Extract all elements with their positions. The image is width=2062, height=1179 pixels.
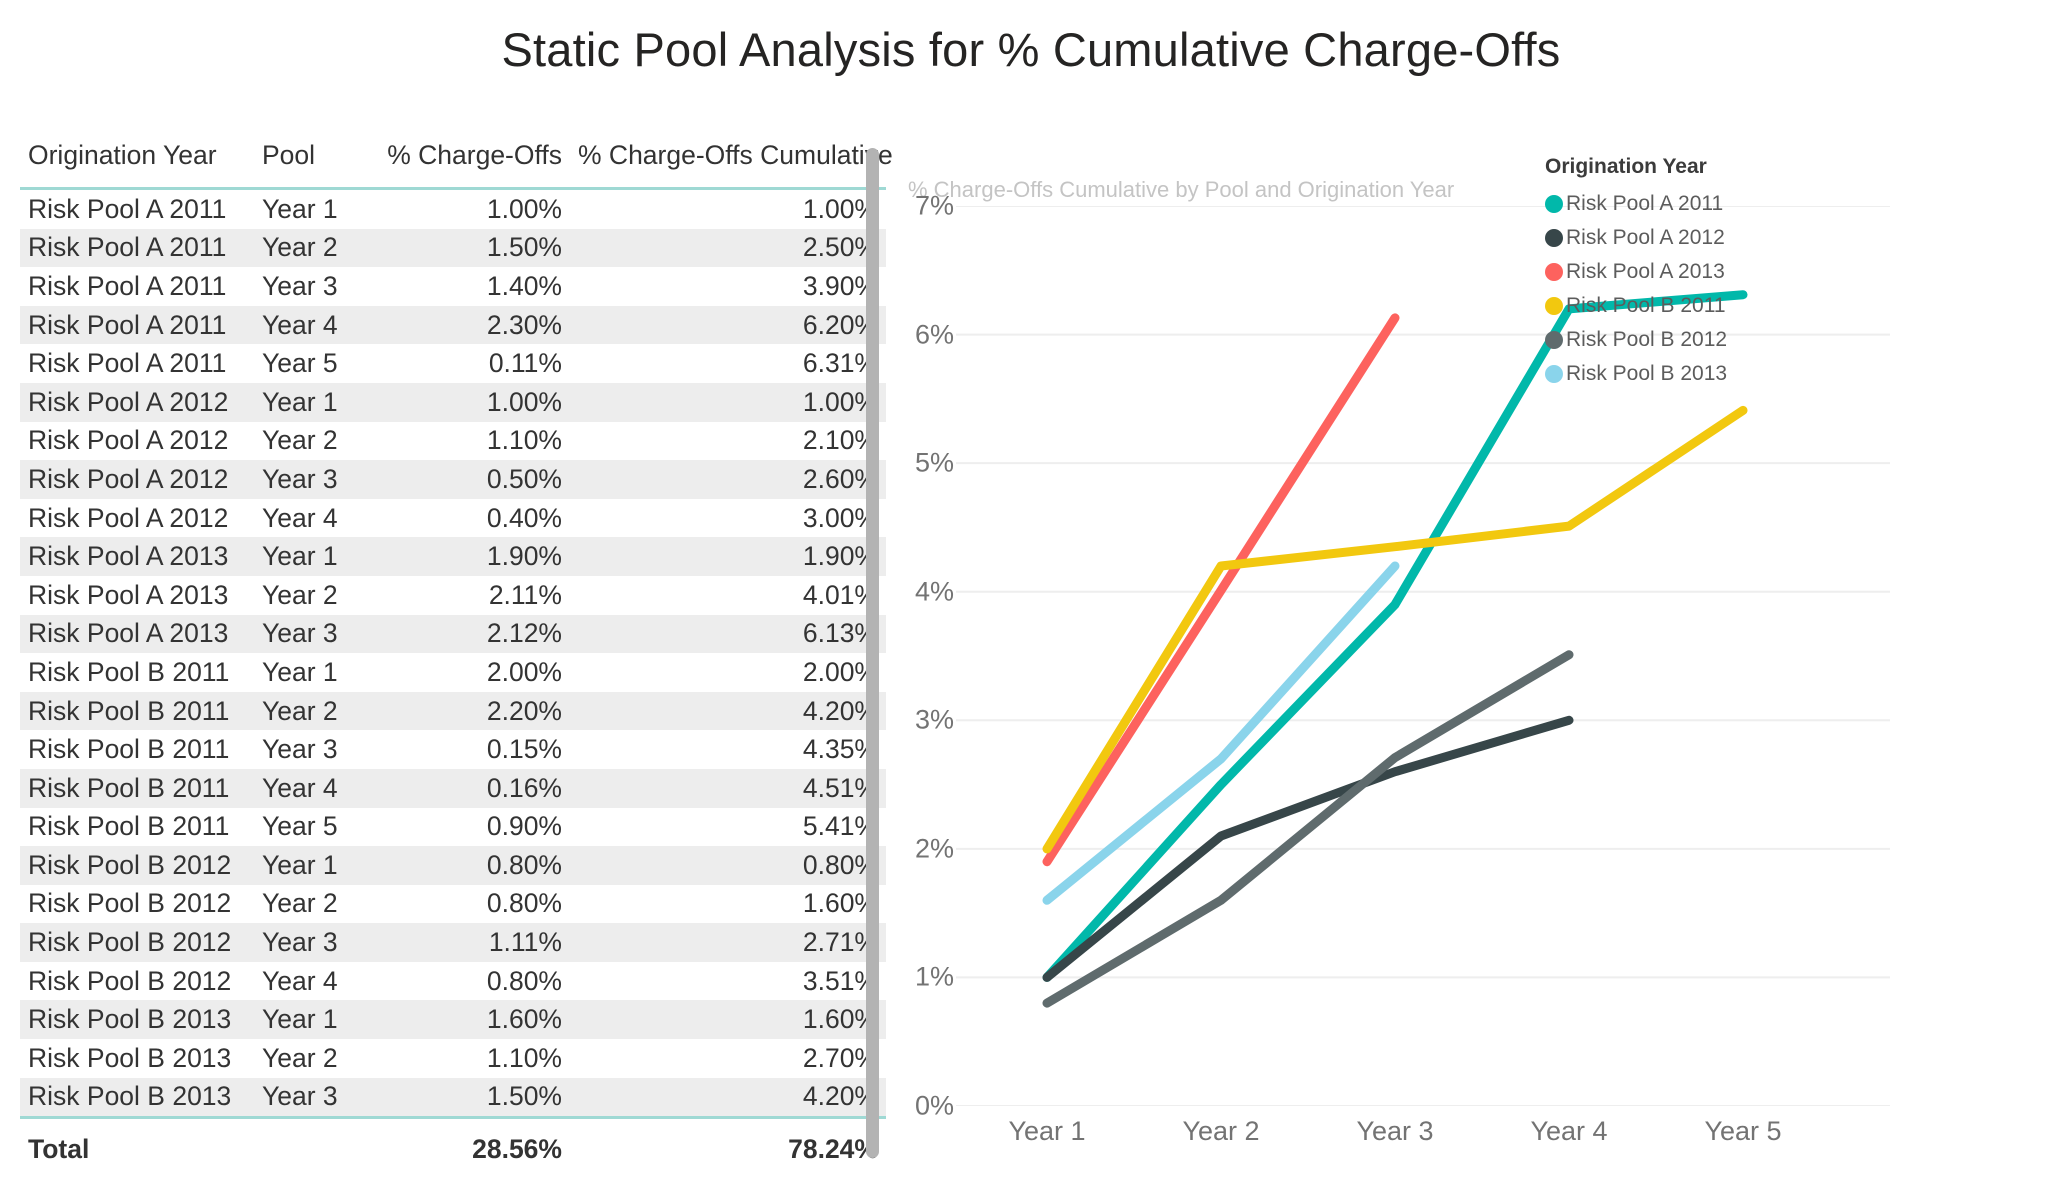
table-row[interactable]: Risk Pool A 2012Year 11.00%1.00%	[20, 383, 886, 422]
cell-charge-offs: 1.50%	[366, 229, 570, 268]
cell-origination-year: Risk Pool A 2011	[20, 344, 254, 383]
cell-charge-offs-cumulative: 6.31%	[570, 344, 886, 383]
cell-pool: Year 3	[254, 267, 366, 306]
total-charge-offs: 28.56%	[366, 1118, 570, 1172]
column-header-charge-offs-cumulative[interactable]: % Charge-Offs Cumulative	[570, 140, 886, 189]
table-row[interactable]: Risk Pool B 2011Year 30.15%4.35%	[20, 730, 886, 769]
table-row[interactable]: Risk Pool B 2012Year 10.80%0.80%	[20, 846, 886, 885]
cell-origination-year: Risk Pool B 2011	[20, 769, 254, 808]
cell-charge-offs: 0.80%	[366, 885, 570, 924]
table-row[interactable]: Risk Pool A 2012Year 21.10%2.10%	[20, 422, 886, 461]
table-row[interactable]: Risk Pool B 2011Year 40.16%4.51%	[20, 769, 886, 808]
legend-color-dot-icon	[1545, 365, 1563, 383]
total-label: Total	[20, 1118, 254, 1172]
table-row[interactable]: Risk Pool A 2013Year 22.11%4.01%	[20, 576, 886, 615]
cell-origination-year: Risk Pool A 2013	[20, 537, 254, 576]
column-header-origination-year[interactable]: Origination Year	[20, 140, 254, 189]
cell-origination-year: Risk Pool A 2011	[20, 189, 254, 229]
legend-item-label: Risk Pool A 2011	[1566, 192, 1723, 216]
cell-charge-offs: 1.40%	[366, 267, 570, 306]
legend-color-dot-icon	[1545, 297, 1563, 315]
static-pool-table: Origination Year Pool % Charge-Offs % Ch…	[20, 140, 886, 1171]
cell-origination-year: Risk Pool A 2012	[20, 383, 254, 422]
table-row[interactable]: Risk Pool B 2013Year 31.50%4.20%	[20, 1078, 886, 1118]
table-header-row: Origination Year Pool % Charge-Offs % Ch…	[20, 140, 886, 189]
chart-legend: Origination Year Risk Pool A 2011Risk Po…	[1545, 155, 1785, 391]
cell-charge-offs: 0.15%	[366, 730, 570, 769]
x-axis-tick-label: Year 2	[1182, 1116, 1259, 1147]
cell-charge-offs-cumulative: 3.51%	[570, 962, 886, 1001]
column-header-charge-offs[interactable]: % Charge-Offs	[366, 140, 570, 189]
table-row[interactable]: Risk Pool B 2013Year 21.10%2.70%	[20, 1039, 886, 1078]
cell-origination-year: Risk Pool B 2011	[20, 653, 254, 692]
cell-pool: Year 1	[254, 653, 366, 692]
cell-charge-offs: 0.50%	[366, 460, 570, 499]
cell-pool: Year 5	[254, 808, 366, 847]
cell-pool: Year 3	[254, 1078, 366, 1118]
table-vertical-scrollbar[interactable]	[866, 148, 879, 1158]
cell-charge-offs-cumulative: 2.50%	[570, 229, 886, 268]
cell-charge-offs: 1.10%	[366, 1039, 570, 1078]
cell-origination-year: Risk Pool A 2012	[20, 422, 254, 461]
cell-pool: Year 3	[254, 923, 366, 962]
legend-title: Origination Year	[1545, 155, 1785, 179]
cell-pool: Year 2	[254, 1039, 366, 1078]
cell-origination-year: Risk Pool B 2013	[20, 1000, 254, 1039]
table-row[interactable]: Risk Pool B 2011Year 50.90%5.41%	[20, 808, 886, 847]
cell-pool: Year 1	[254, 537, 366, 576]
x-axis-tick-label: Year 3	[1356, 1116, 1433, 1147]
cell-origination-year: Risk Pool B 2012	[20, 846, 254, 885]
cell-charge-offs: 2.12%	[366, 615, 570, 654]
cell-pool: Year 2	[254, 422, 366, 461]
static-pool-table-visual[interactable]: Origination Year Pool % Charge-Offs % Ch…	[20, 140, 840, 1171]
cell-charge-offs: 1.00%	[366, 383, 570, 422]
cell-charge-offs: 0.80%	[366, 962, 570, 1001]
column-header-pool[interactable]: Pool	[254, 140, 366, 189]
cell-origination-year: Risk Pool A 2011	[20, 229, 254, 268]
table-row[interactable]: Risk Pool B 2013Year 11.60%1.60%	[20, 1000, 886, 1039]
cell-charge-offs-cumulative: 1.60%	[570, 885, 886, 924]
table-row[interactable]: Risk Pool B 2011Year 22.20%4.20%	[20, 692, 886, 731]
cell-charge-offs: 2.00%	[366, 653, 570, 692]
cell-charge-offs-cumulative: 4.51%	[570, 769, 886, 808]
table-body: Risk Pool A 2011Year 11.00%1.00%Risk Poo…	[20, 189, 886, 1118]
cell-origination-year: Risk Pool B 2011	[20, 808, 254, 847]
table-total-row: Total 28.56% 78.24%	[20, 1118, 886, 1172]
table-row[interactable]: Risk Pool A 2012Year 30.50%2.60%	[20, 460, 886, 499]
table-row[interactable]: Risk Pool A 2011Year 42.30%6.20%	[20, 306, 886, 345]
cell-pool: Year 4	[254, 962, 366, 1001]
cell-origination-year: Risk Pool B 2013	[20, 1039, 254, 1078]
cell-origination-year: Risk Pool A 2013	[20, 615, 254, 654]
legend-item[interactable]: Risk Pool B 2011	[1545, 289, 1785, 323]
cell-charge-offs: 0.11%	[366, 344, 570, 383]
cell-pool: Year 4	[254, 499, 366, 538]
series-lines	[1047, 295, 1743, 1003]
cell-pool: Year 4	[254, 769, 366, 808]
cell-charge-offs: 2.30%	[366, 306, 570, 345]
legend-item[interactable]: Risk Pool B 2013	[1545, 357, 1785, 391]
series-line[interactable]	[1047, 410, 1743, 848]
chart-title: % Charge-Offs Cumulative by Pool and Ori…	[908, 177, 1454, 203]
cell-charge-offs: 1.10%	[366, 422, 570, 461]
cell-charge-offs-cumulative: 1.60%	[570, 1000, 886, 1039]
cell-charge-offs: 0.90%	[366, 808, 570, 847]
cell-pool: Year 1	[254, 383, 366, 422]
cell-pool: Year 1	[254, 846, 366, 885]
table-row[interactable]: Risk Pool A 2013Year 11.90%1.90%	[20, 537, 886, 576]
cell-charge-offs-cumulative: 2.10%	[570, 422, 886, 461]
cell-charge-offs: 1.50%	[366, 1078, 570, 1118]
table-row[interactable]: Risk Pool B 2012Year 20.80%1.60%	[20, 885, 886, 924]
cell-pool: Year 5	[254, 344, 366, 383]
cell-origination-year: Risk Pool A 2011	[20, 267, 254, 306]
cell-charge-offs: 2.11%	[366, 576, 570, 615]
table-row[interactable]: Risk Pool A 2011Year 31.40%3.90%	[20, 267, 886, 306]
page-title: Static Pool Analysis for % Cumulative Ch…	[0, 22, 2062, 77]
table-row[interactable]: Risk Pool A 2013Year 32.12%6.13%	[20, 615, 886, 654]
total-pool	[254, 1118, 366, 1172]
cell-origination-year: Risk Pool B 2011	[20, 730, 254, 769]
cell-origination-year: Risk Pool B 2012	[20, 885, 254, 924]
series-line[interactable]	[1047, 566, 1395, 900]
cell-origination-year: Risk Pool B 2013	[20, 1078, 254, 1118]
cell-charge-offs-cumulative: 5.41%	[570, 808, 886, 847]
series-line[interactable]	[1047, 295, 1743, 978]
legend-item[interactable]: Risk Pool A 2013	[1545, 255, 1785, 289]
table-row[interactable]: Risk Pool A 2011Year 21.50%2.50%	[20, 229, 886, 268]
legend-items: Risk Pool A 2011Risk Pool A 2012Risk Poo…	[1545, 187, 1785, 391]
legend-color-dot-icon	[1545, 263, 1563, 281]
cell-charge-offs: 1.90%	[366, 537, 570, 576]
total-charge-offs-cumulative: 78.24%	[570, 1118, 886, 1172]
cell-charge-offs-cumulative: 4.20%	[570, 692, 886, 731]
x-axis-tick-label: Year 1	[1008, 1116, 1085, 1147]
table-row[interactable]: Risk Pool A 2011Year 50.11%6.31%	[20, 344, 886, 383]
cell-charge-offs: 1.60%	[366, 1000, 570, 1039]
cell-charge-offs: 0.80%	[366, 846, 570, 885]
cell-charge-offs: 0.16%	[366, 769, 570, 808]
cell-charge-offs-cumulative: 6.13%	[570, 615, 886, 654]
cell-charge-offs-cumulative: 4.20%	[570, 1078, 886, 1118]
table-footer: Total 28.56% 78.24%	[20, 1118, 886, 1172]
cell-charge-offs-cumulative: 3.90%	[570, 267, 886, 306]
cell-origination-year: Risk Pool A 2012	[20, 499, 254, 538]
cell-pool: Year 3	[254, 615, 366, 654]
cell-pool: Year 1	[254, 189, 366, 229]
cell-origination-year: Risk Pool A 2011	[20, 306, 254, 345]
x-axis: Year 1Year 2Year 3Year 4Year 5	[890, 1106, 1890, 1156]
legend-item[interactable]: Risk Pool A 2012	[1545, 221, 1785, 255]
cell-origination-year: Risk Pool A 2013	[20, 576, 254, 615]
cell-pool: Year 3	[254, 460, 366, 499]
cell-charge-offs-cumulative: 2.60%	[570, 460, 886, 499]
cell-origination-year: Risk Pool B 2012	[20, 962, 254, 1001]
x-axis-tick-label: Year 4	[1530, 1116, 1607, 1147]
cell-charge-offs-cumulative: 4.35%	[570, 730, 886, 769]
table-header: Origination Year Pool % Charge-Offs % Ch…	[20, 140, 886, 189]
cell-origination-year: Risk Pool B 2012	[20, 923, 254, 962]
legend-item-label: Risk Pool A 2012	[1566, 226, 1725, 250]
cell-charge-offs: 0.40%	[366, 499, 570, 538]
cell-charge-offs-cumulative: 4.01%	[570, 576, 886, 615]
cell-charge-offs-cumulative: 1.00%	[570, 383, 886, 422]
x-axis-tick-label: Year 5	[1704, 1116, 1781, 1147]
table-row[interactable]: Risk Pool B 2012Year 40.80%3.51%	[20, 962, 886, 1001]
table-row[interactable]: Risk Pool A 2011Year 11.00%1.00%	[20, 189, 886, 229]
legend-color-dot-icon	[1545, 229, 1563, 247]
table-row[interactable]: Risk Pool B 2011Year 12.00%2.00%	[20, 653, 886, 692]
legend-item-label: Risk Pool A 2013	[1566, 260, 1725, 284]
cell-pool: Year 2	[254, 229, 366, 268]
legend-color-dot-icon	[1545, 331, 1563, 349]
cell-charge-offs-cumulative: 2.00%	[570, 653, 886, 692]
cell-charge-offs-cumulative: 3.00%	[570, 499, 886, 538]
cell-charge-offs: 2.20%	[366, 692, 570, 731]
legend-item-label: Risk Pool B 2013	[1566, 362, 1727, 386]
legend-item-label: Risk Pool B 2011	[1566, 294, 1726, 318]
cell-charge-offs-cumulative: 2.71%	[570, 923, 886, 962]
table-row[interactable]: Risk Pool A 2012Year 40.40%3.00%	[20, 499, 886, 538]
cell-pool: Year 2	[254, 692, 366, 731]
cell-charge-offs: 1.11%	[366, 923, 570, 962]
cell-charge-offs-cumulative: 1.00%	[570, 189, 886, 229]
cell-charge-offs-cumulative: 2.70%	[570, 1039, 886, 1078]
legend-color-dot-icon	[1545, 195, 1563, 213]
legend-item[interactable]: Risk Pool B 2012	[1545, 323, 1785, 357]
cell-pool: Year 3	[254, 730, 366, 769]
cell-charge-offs: 1.00%	[366, 189, 570, 229]
series-line[interactable]	[1047, 655, 1569, 1003]
cell-pool: Year 2	[254, 885, 366, 924]
cell-origination-year: Risk Pool A 2012	[20, 460, 254, 499]
cell-charge-offs-cumulative: 0.80%	[570, 846, 886, 885]
cell-charge-offs-cumulative: 1.90%	[570, 537, 886, 576]
cell-origination-year: Risk Pool B 2011	[20, 692, 254, 731]
cell-pool: Year 4	[254, 306, 366, 345]
line-chart-visual[interactable]: % Charge-Offs Cumulative by Pool and Ori…	[890, 150, 2050, 1160]
cell-pool: Year 1	[254, 1000, 366, 1039]
table-row[interactable]: Risk Pool B 2012Year 31.11%2.71%	[20, 923, 886, 962]
cell-pool: Year 2	[254, 576, 366, 615]
legend-item-label: Risk Pool B 2012	[1566, 328, 1727, 352]
cell-charge-offs-cumulative: 6.20%	[570, 306, 886, 345]
legend-item[interactable]: Risk Pool A 2011	[1545, 187, 1785, 221]
